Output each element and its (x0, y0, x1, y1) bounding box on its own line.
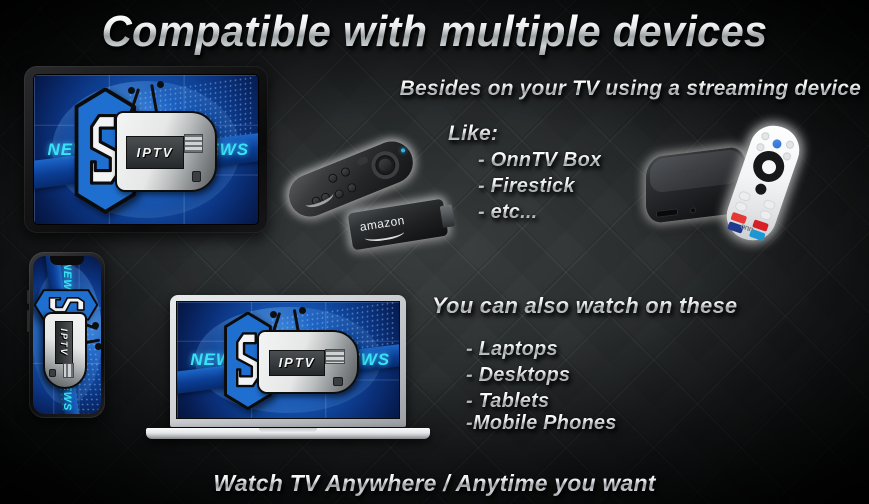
microphone-button (356, 156, 369, 167)
brand-label: IPTV (59, 328, 69, 356)
tv-vents (184, 134, 204, 153)
remote-button (760, 131, 770, 141)
antenna-ball-icon (299, 307, 306, 314)
phone-notch (50, 256, 84, 265)
list-item: - Desktops (466, 362, 570, 388)
remote-button (333, 188, 345, 200)
assistant-button-icon (771, 138, 782, 149)
tv-vents (63, 363, 74, 378)
phone-screen: NEWS NEWS IPTV (33, 256, 101, 414)
laptop-base-notch (259, 428, 317, 433)
promo-graphic: Compatible with multiple devices Besides… (0, 0, 869, 504)
onn-box-logo: onn (680, 163, 701, 181)
retro-tv-screen: IPTV (55, 321, 73, 364)
laptop-screen: NEWS NEWS IPTV (177, 302, 399, 418)
retro-tv-icon: IPTV (43, 312, 87, 389)
remote-button (327, 172, 339, 184)
onn-group: onn onn. (646, 128, 832, 248)
laptop-base (146, 428, 430, 439)
list-item: - Laptops (466, 336, 558, 362)
remote-button (759, 209, 773, 221)
tv-vents (325, 349, 345, 364)
mobile-phone-device: NEWS NEWS IPTV (29, 252, 105, 418)
remote-button (734, 200, 748, 212)
hdmi-port (656, 208, 678, 218)
list-item: - OnnTV Box (478, 148, 601, 173)
iptv-logo-art: NEWS NEWS IPTV (177, 302, 399, 418)
phone-side-button (27, 310, 29, 332)
remote-led-indicator (400, 148, 405, 153)
retro-tv-icon: IPTV (257, 330, 359, 394)
remote-button (340, 166, 352, 178)
subtitle-text: Besides on your TV using a streaming dev… (400, 76, 861, 102)
antenna-ball-icon (95, 343, 101, 350)
footer-tagline: Watch TV Anywhere / Anytime you want (0, 468, 869, 498)
tablet-device: NEWS NEWS IPTV (24, 66, 268, 233)
antenna-ball-icon (128, 87, 135, 94)
retro-tv-screen: IPTV (269, 350, 326, 376)
list-item: -Mobile Phones (466, 410, 617, 436)
tv-knob (192, 171, 202, 182)
remote-button (346, 182, 358, 194)
brand-label: IPTV (279, 355, 316, 370)
power-port (690, 207, 696, 214)
home-button-icon (754, 182, 768, 196)
laptop-lid: NEWS NEWS IPTV (170, 295, 406, 427)
list-item: - etc... (478, 200, 537, 225)
dpad-icon (367, 147, 403, 183)
firestick-group: amazon (284, 146, 458, 258)
phone-side-button (27, 290, 29, 304)
like-label: Like: (448, 121, 498, 147)
retro-tv-icon: IPTV (115, 111, 218, 192)
tv-knob (49, 369, 56, 377)
page-title: Compatible with multiple devices (22, 6, 848, 58)
laptop-device: NEWS NEWS IPTV (146, 295, 430, 445)
iptv-logo-art: NEWS NEWS IPTV (33, 256, 101, 414)
list-item: - Firestick (478, 174, 575, 199)
amazon-smile-icon (303, 187, 336, 210)
amazon-fire-tv-stick: amazon (348, 199, 449, 251)
remote-button (785, 140, 795, 150)
dpad-icon (749, 147, 788, 186)
iptv-logo-art: NEWS NEWS IPTV (34, 75, 258, 224)
brand-label: IPTV (137, 145, 174, 160)
phone-screen-rotated-content: NEWS NEWS IPTV (33, 256, 101, 414)
also-watch-heading: You can also watch on these (432, 292, 737, 320)
hdmi-connector (440, 204, 455, 228)
tv-knob (333, 377, 343, 386)
retro-tv-screen: IPTV (126, 136, 183, 169)
tablet-screen: NEWS NEWS IPTV (34, 75, 258, 224)
